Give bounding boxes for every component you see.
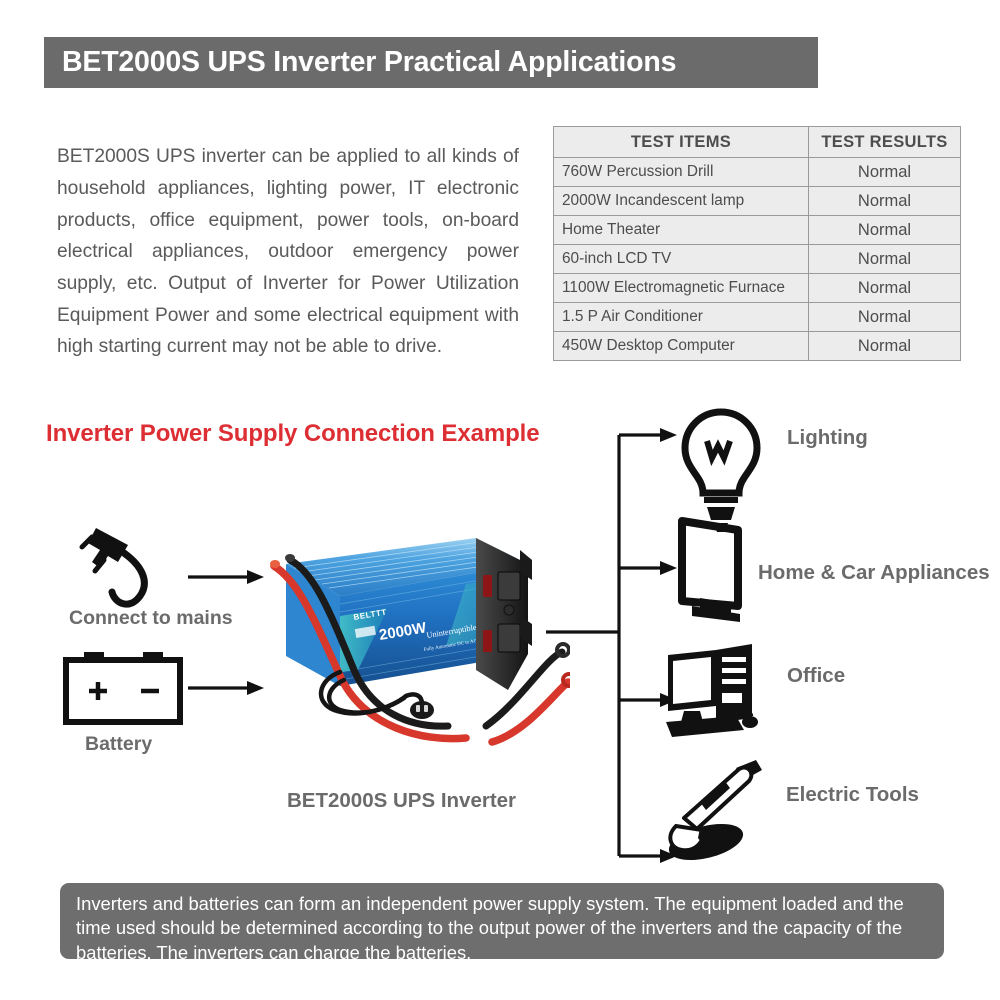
battery-icon [66, 652, 180, 722]
table-row: 760W Percussion Drill Normal [554, 158, 961, 187]
label-inverter-caption: BET2000S UPS Inverter [287, 789, 516, 813]
cable-lug-black [285, 554, 295, 562]
table-row: 60-inch LCD TV Normal [554, 245, 961, 274]
label-lighting: Lighting [787, 426, 868, 450]
cell-test-result: Normal [809, 216, 961, 245]
cell-test-item: 1.5 P Air Conditioner [554, 303, 809, 332]
cell-test-item: 1100W Electromagnetic Furnace [554, 274, 809, 303]
intro-paragraph: BET2000S UPS inverter can be applied to … [57, 141, 519, 363]
arrow-to-office [619, 693, 677, 707]
desktop-computer-icon [666, 644, 758, 737]
arrow-to-home-appliances [619, 561, 677, 575]
column-header-test-results: TEST RESULTS [809, 127, 961, 158]
monitor-tv-icon [682, 521, 740, 622]
cell-test-result: Normal [809, 158, 961, 187]
arrow-mains-to-inverter [188, 570, 264, 584]
inverter-product-image: BELTTT 2000W Uninterruptible Power Sourc… [270, 520, 570, 750]
table-row: 450W Desktop Computer Normal [554, 332, 961, 361]
test-results-table: TEST ITEMS TEST RESULTS 760W Percussion … [553, 126, 960, 361]
cell-test-result: Normal [809, 303, 961, 332]
ac-plug-head [410, 701, 434, 719]
table-row: 2000W Incandescent lamp Normal [554, 187, 961, 216]
label-electric-tools: Electric Tools [786, 783, 919, 807]
arrow-battery-to-inverter [188, 681, 264, 695]
cell-test-item: 450W Desktop Computer [554, 332, 809, 361]
cell-test-result: Normal [809, 274, 961, 303]
table-row: 1100W Electromagnetic Furnace Normal [554, 274, 961, 303]
cell-test-item: 760W Percussion Drill [554, 158, 809, 187]
angle-grinder-icon [665, 760, 762, 867]
arrow-to-lighting [619, 428, 677, 442]
cell-test-item: 60-inch LCD TV [554, 245, 809, 274]
table-row: Home Theater Normal [554, 216, 961, 245]
cell-test-item: 2000W Incandescent lamp [554, 187, 809, 216]
label-home-car-appliances: Home & Car Appliances [758, 561, 990, 585]
label-battery: Battery [85, 733, 152, 756]
cell-test-result: Normal [809, 245, 961, 274]
diagram-heading: Inverter Power Supply Connection Example [46, 420, 539, 448]
footer-note-box: Inverters and batteries can form an inde… [60, 883, 944, 959]
battery-plus-symbol [89, 682, 107, 700]
cable-lug-red [270, 560, 280, 568]
page-title: BET2000S UPS Inverter Practical Applicat… [62, 46, 676, 79]
page-header-bar: BET2000S UPS Inverter Practical Applicat… [44, 37, 818, 88]
power-plug-icon [82, 528, 144, 604]
table-row: 1.5 P Air Conditioner Normal [554, 303, 961, 332]
inverter-socket-panel [476, 538, 532, 690]
label-connect-to-mains: Connect to mains [69, 607, 233, 630]
cell-test-result: Normal [809, 332, 961, 361]
cell-test-item: Home Theater [554, 216, 809, 245]
application-page: BET2000S UPS Inverter Practical Applicat… [0, 0, 1000, 1000]
light-bulb-icon [685, 412, 757, 532]
label-office: Office [787, 664, 845, 688]
cell-test-result: Normal [809, 187, 961, 216]
table-header-row: TEST ITEMS TEST RESULTS [554, 127, 961, 158]
footer-note-text: Inverters and batteries can form an inde… [76, 892, 928, 965]
column-header-test-items: TEST ITEMS [554, 127, 809, 158]
arrow-to-electric-tools [619, 849, 677, 863]
